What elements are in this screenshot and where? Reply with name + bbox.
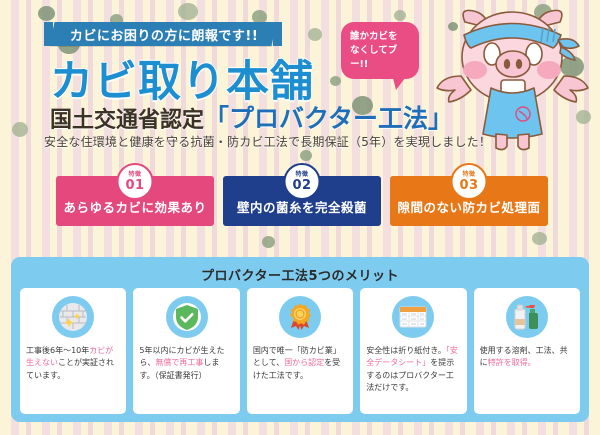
merit-card-3[interactable]: 国内で唯一「防カビ業」として、国から認定を受けた工法です。	[247, 288, 353, 414]
medal-icon	[279, 296, 321, 338]
merit-card-4-text: 安全性は折り紙付き。「安全データシート」を提示するのはプロバクター工法だけです。	[360, 345, 466, 395]
feature-badge-03: 特徴 03	[451, 163, 488, 200]
feature-badge-01: 特徴 01	[117, 163, 154, 200]
merit-card-3-text: 国内で唯一「防カビ業」として、国から認定を受けた工法です。	[247, 345, 353, 382]
feature-box-01[interactable]: 特徴 01 あらゆるカビに効果あり	[56, 176, 214, 226]
merits-title: プロバクター工法5つのメリット	[11, 257, 589, 284]
pig-mascot-icon	[425, 2, 600, 157]
feature-box-03[interactable]: 特徴 03 隙間のない防カビ処理面	[390, 176, 548, 226]
badge-number: 01	[125, 179, 144, 192]
mold-spot-icon	[38, 6, 55, 21]
badge-label: 特徴	[128, 172, 141, 178]
merits-panel: プロバクター工法5つのメリット 工事後6年〜10年カビが生えないことが実証されて…	[11, 257, 589, 422]
merit-card-2[interactable]: 5年以内にカビが生えたら、無償で再工事します。（保証書発行）	[133, 288, 239, 414]
mold-spot-icon	[300, 150, 312, 161]
page-subtitle: 国土交通省認定「プロバクター工法」	[50, 99, 453, 135]
sparkling-wall-icon	[52, 296, 94, 338]
mold-spot-icon	[308, 28, 322, 41]
mold-spot-icon	[330, 76, 341, 86]
highlighted-text: 無償で再工事	[155, 358, 203, 367]
merit-card-1[interactable]: 工事後6年〜10年カビが生えないことが実証されています。	[20, 288, 126, 414]
mold-spot-icon	[532, 232, 547, 245]
mold-spot-icon	[178, 3, 198, 20]
body-text: 工事後6年〜10年	[26, 346, 89, 355]
body-text: 安全性は折り紙付き。	[366, 346, 446, 355]
feature-box-02[interactable]: 特徴 02 壁内の菌糸を完全殺菌	[223, 176, 381, 226]
highlighted-text: 国から認定	[284, 358, 324, 367]
feature-boxes: 特徴 01 あらゆるカビに効果あり 特徴 02 壁内の菌糸を完全殺菌 特徴 03…	[56, 176, 548, 226]
mold-spot-icon	[12, 122, 28, 137]
announcement-ribbon: カビにお困りの方に朗報です!!	[49, 22, 276, 46]
merit-card-4[interactable]: 安全性は折り紙付き。「安全データシート」を提示するのはプロバクター工法だけです。	[360, 288, 466, 414]
badge-label: 特徴	[462, 172, 475, 178]
highlighted-text: 特許を取得。	[488, 358, 536, 367]
data-sheet-icon	[392, 296, 434, 338]
merit-card-2-text: 5年以内にカビが生えたら、無償で再工事します。（保証書発行）	[133, 345, 239, 382]
mold-spot-icon	[262, 236, 275, 248]
merit-cards: 工事後6年〜10年カビが生えないことが実証されています。 5年以内にカビが生えた…	[20, 288, 580, 414]
badge-number: 02	[292, 179, 311, 192]
bubble-line-2: なくしてブー!!	[350, 44, 410, 72]
shield-check-icon	[166, 296, 208, 338]
ribbon-label: カビにお困りの方に朗報です!!	[70, 25, 258, 44]
merit-card-5[interactable]: 使用する溶剤、工法、共に特許を取得。	[474, 288, 580, 414]
merit-card-1-text: 工事後6年〜10年カビが生えないことが実証されています。	[20, 345, 126, 382]
feature-badge-02: 特徴 02	[284, 163, 321, 200]
merit-card-5-text: 使用する溶剤、工法、共に特許を取得。	[474, 345, 580, 370]
mascot-speech-bubble: 誰かカビを なくしてブー!!	[341, 22, 419, 79]
badge-label: 特徴	[295, 172, 308, 178]
lead-text: 安全な住環境と健康を守る抗菌・防カビ工法で長期保証（5年）を実現しました！	[44, 133, 491, 150]
badge-number: 03	[459, 179, 478, 192]
mold-spot-icon	[394, 10, 406, 21]
bubble-line-1: 誰かカビを	[350, 30, 410, 44]
spray-bottle-icon	[506, 296, 548, 338]
promo-page: カビにお困りの方に朗報です!! カビ取り本舗 国土交通省認定「プロバクター工法」…	[0, 0, 600, 435]
subtitle-certification: 国土交通省認定	[50, 108, 204, 133]
subtitle-method-name: 「プロバクター工法」	[204, 104, 453, 133]
